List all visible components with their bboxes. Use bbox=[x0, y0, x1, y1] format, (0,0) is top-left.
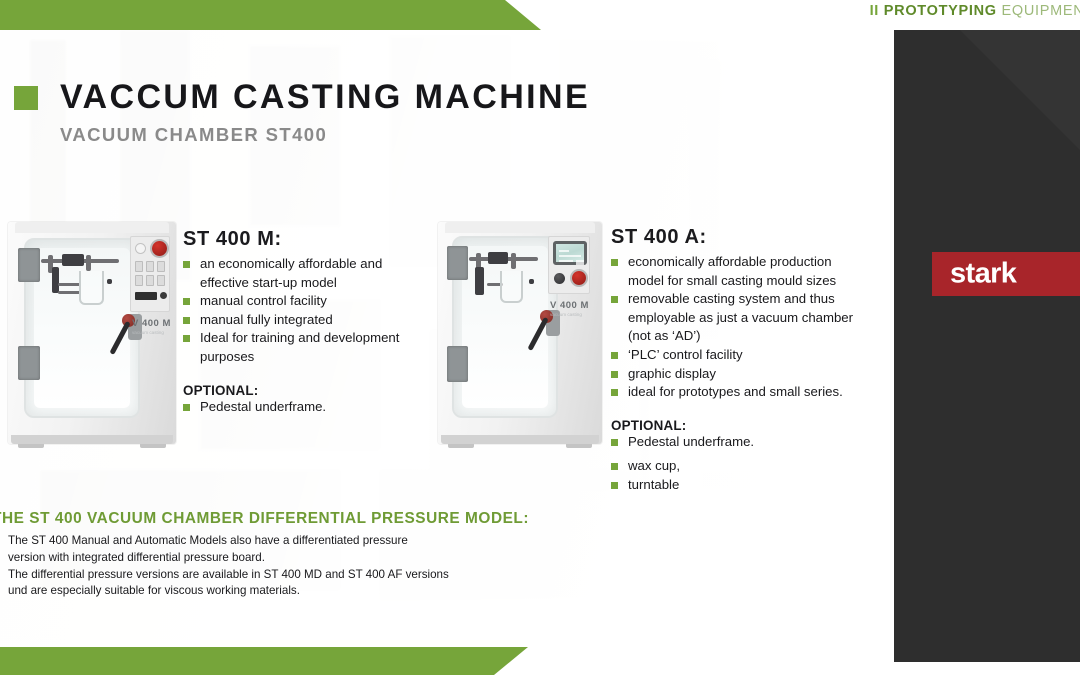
optional-heading: OPTIONAL: bbox=[183, 383, 423, 398]
machine-top-cap bbox=[445, 222, 596, 233]
machine-chamber-glass bbox=[34, 248, 130, 408]
machine-control-panel bbox=[130, 236, 170, 312]
machine-mode-knob[interactable] bbox=[554, 273, 565, 284]
title-square-bullet-icon bbox=[14, 86, 38, 110]
machine-gauge-icon bbox=[135, 243, 146, 254]
differential-pressure-block: THE ST 400 VACUUM CHAMBER DIFFERENTIAL P… bbox=[0, 510, 632, 600]
list-item: Ideal for training and development purpo… bbox=[183, 329, 423, 366]
spec-column-st400m: ST 400 M: an economically affordable and… bbox=[183, 228, 423, 416]
machine-base bbox=[11, 435, 172, 444]
header-bars-icon: II bbox=[870, 3, 879, 19]
list-item: manual control facility bbox=[183, 292, 423, 311]
machine-hinge-bottom bbox=[18, 346, 40, 380]
list-item: Pedestal underframe. bbox=[183, 398, 423, 417]
slide-root: II PROTOTYPING EQUIPMENT VACCUM CASTING … bbox=[0, 0, 1080, 675]
machine-touchscreen-display[interactable] bbox=[553, 241, 587, 265]
spec-column-st400a: ST 400 A: economically affordable produc… bbox=[611, 226, 869, 495]
machine-internals bbox=[40, 253, 125, 301]
list-item: und are especially suitable for viscous … bbox=[0, 583, 632, 600]
list-item: ideal for prototypes and small series. bbox=[611, 383, 869, 402]
machine-hinge-top bbox=[18, 248, 40, 282]
machine-model-label-left: V 400 M bbox=[132, 318, 171, 329]
machine-hinge-top bbox=[447, 246, 468, 280]
machine-hmi-panel bbox=[548, 236, 590, 294]
optional-heading: OPTIONAL: bbox=[611, 418, 869, 433]
emergency-stop-button[interactable] bbox=[152, 241, 167, 256]
spec-list: an economically affordable and effective… bbox=[183, 255, 423, 367]
spec-column-title: ST 400 M: bbox=[183, 228, 423, 251]
spec-list: economically affordable production model… bbox=[611, 253, 869, 402]
optional-list: Pedestal underframe. bbox=[183, 398, 423, 417]
list-item: ‘PLC’ control facility bbox=[611, 346, 869, 365]
machine-hinge-bottom bbox=[447, 346, 468, 382]
optional-list: Pedestal underframe. wax cup, turntable bbox=[611, 433, 869, 495]
list-item: Pedestal underframe. bbox=[611, 433, 869, 452]
machine-top-cap bbox=[15, 222, 170, 233]
brand-panel: stark stark bbox=[894, 30, 1080, 662]
machine-image-right: V 400 M vacuum casting bbox=[438, 222, 602, 444]
list-item: The differential pressure versions are a… bbox=[0, 567, 632, 584]
header-caption: II PROTOTYPING EQUIPMENT bbox=[870, 3, 1080, 19]
list-item: turntable bbox=[611, 476, 869, 495]
page-title-row: VACCUM CASTING MACHINE bbox=[14, 78, 590, 117]
page-subtitle: VACUUM CHAMBER ST400 bbox=[60, 124, 327, 146]
stark-logo: stark bbox=[932, 252, 1080, 296]
list-item: wax cup, bbox=[611, 457, 869, 476]
machine-chamber-door bbox=[24, 238, 140, 418]
header-caption-light: EQUIPMENT bbox=[1002, 3, 1080, 19]
machine-base bbox=[441, 435, 598, 444]
differential-pressure-list: The ST 400 Manual and Automatic Models a… bbox=[0, 533, 632, 600]
list-item: removable casting system and thus employ… bbox=[611, 290, 869, 346]
emergency-stop-button[interactable] bbox=[572, 271, 586, 285]
list-item: The ST 400 Manual and Automatic Models a… bbox=[0, 533, 632, 550]
machine-chamber-glass bbox=[462, 246, 548, 408]
list-item: economically affordable production model… bbox=[611, 253, 869, 290]
differential-pressure-title: THE ST 400 VACUUM CHAMBER DIFFERENTIAL P… bbox=[0, 510, 632, 528]
header-caption-strong: PROTOTYPING bbox=[884, 3, 997, 19]
bottom-green-bar bbox=[0, 647, 570, 675]
list-item: an economically affordable and effective… bbox=[183, 255, 423, 292]
list-item: manual fully integrated bbox=[183, 311, 423, 330]
machine-internals bbox=[467, 251, 543, 300]
list-item: version with integrated differential pre… bbox=[0, 550, 632, 567]
list-item: graphic display bbox=[611, 365, 869, 384]
top-green-bar bbox=[0, 0, 560, 30]
page-title: VACCUM CASTING MACHINE bbox=[60, 78, 590, 117]
machine-model-label-right: V 400 M bbox=[550, 300, 589, 311]
machine-model-sublabel-left: vacuum casting bbox=[132, 330, 164, 335]
panel-corner-shade bbox=[960, 30, 1080, 150]
machine-image-left: V 400 M vacuum casting bbox=[8, 222, 176, 444]
spec-column-title: ST 400 A: bbox=[611, 226, 869, 249]
machine-model-sublabel-right: vacuum casting bbox=[550, 312, 582, 317]
stark-logo-text: stark bbox=[950, 258, 1016, 291]
